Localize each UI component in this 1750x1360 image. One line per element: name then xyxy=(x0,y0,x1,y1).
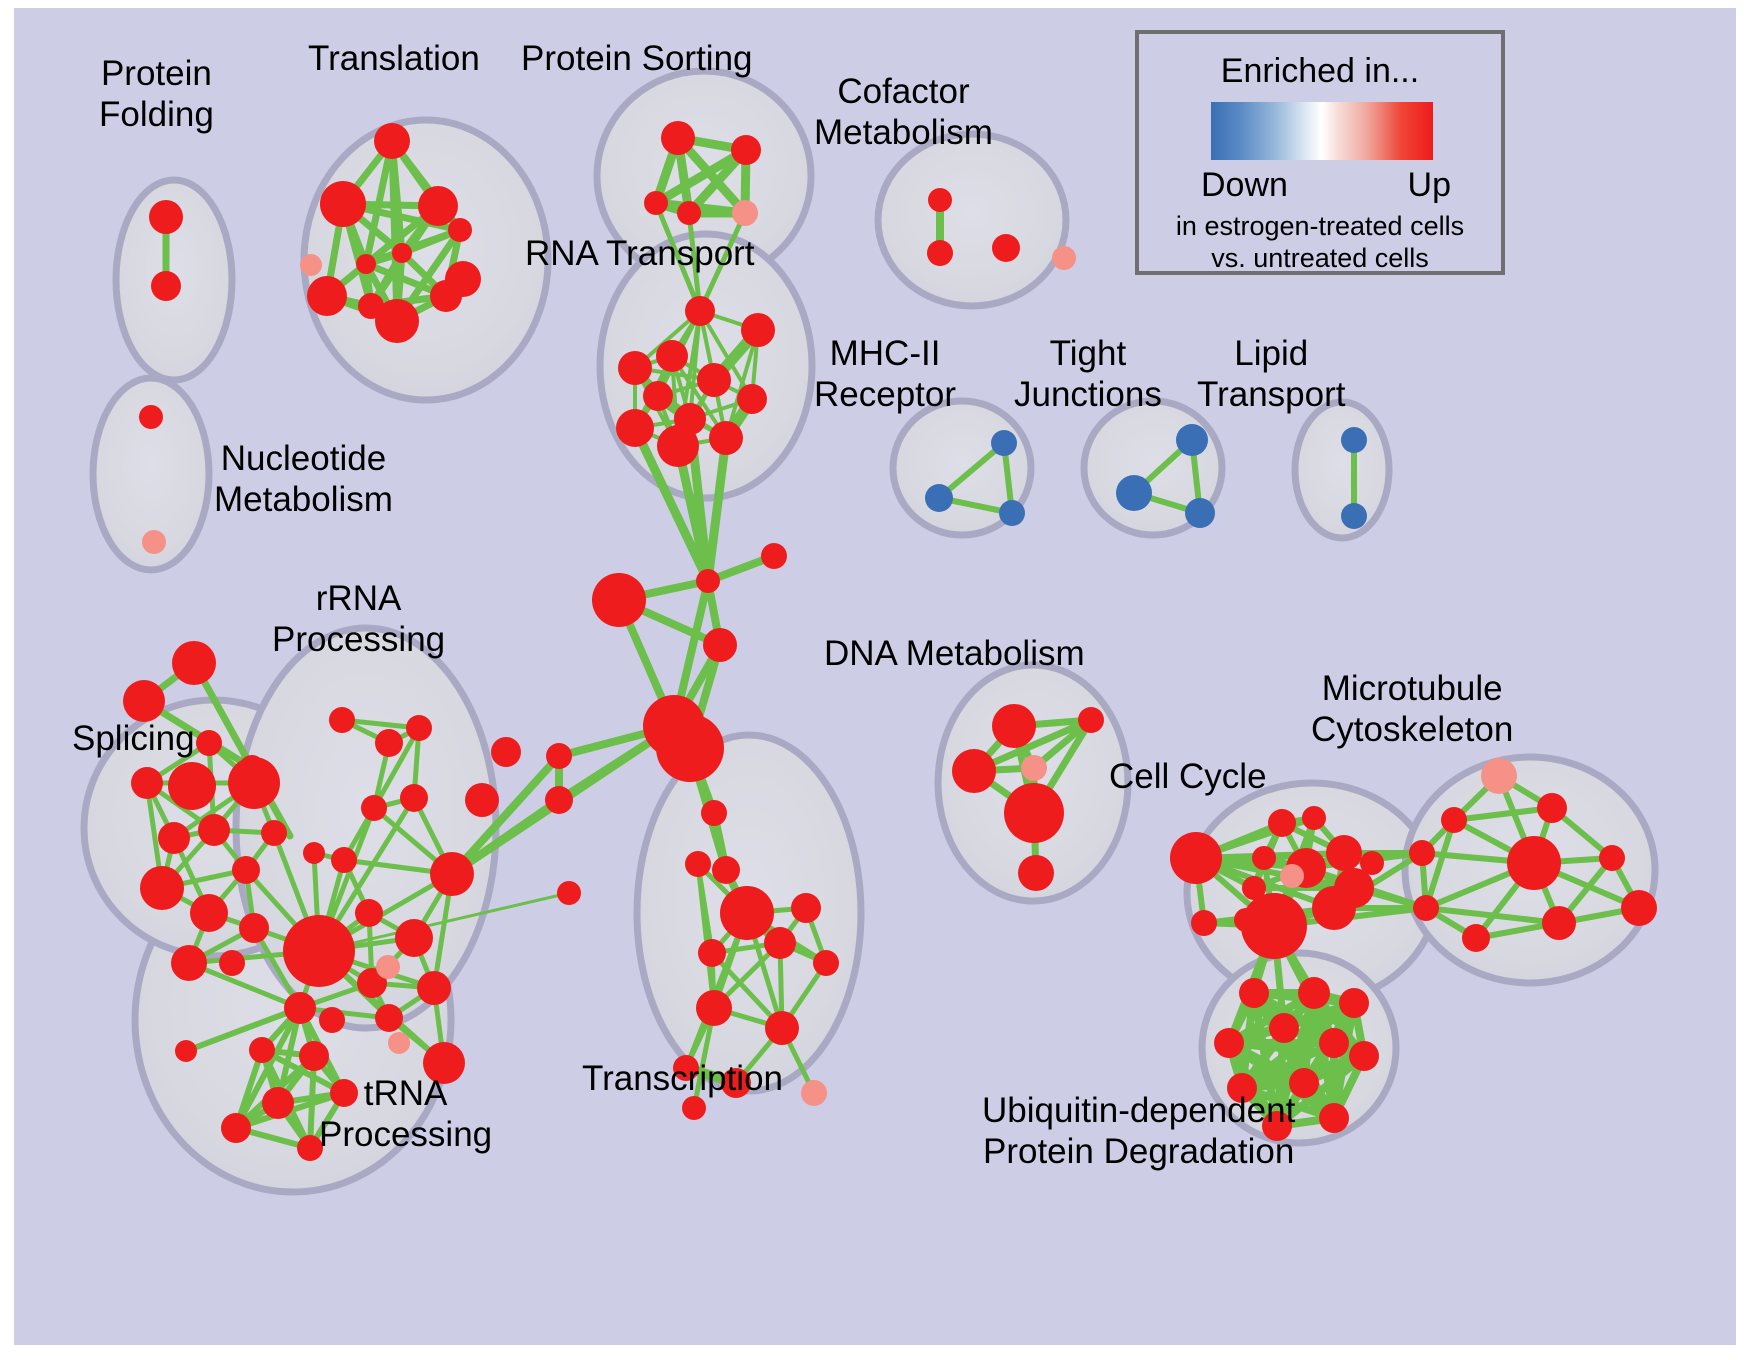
figure-root: Protein Folding Translation Protein Sort… xyxy=(0,0,1750,1360)
node xyxy=(1298,977,1330,1009)
node xyxy=(1621,890,1657,926)
node xyxy=(992,234,1020,262)
halo-cofactor-metabolism xyxy=(878,134,1066,306)
node xyxy=(685,851,711,877)
node xyxy=(1537,793,1567,823)
node xyxy=(1234,908,1258,932)
node xyxy=(1269,1013,1299,1043)
node xyxy=(1339,988,1369,1018)
node xyxy=(1289,1068,1319,1098)
node xyxy=(698,939,726,967)
node xyxy=(1227,1073,1257,1103)
node xyxy=(140,866,184,910)
node xyxy=(1078,707,1104,733)
node xyxy=(1507,836,1561,890)
node xyxy=(171,945,207,981)
node xyxy=(1599,845,1625,871)
node xyxy=(731,135,761,165)
node xyxy=(696,569,720,593)
node xyxy=(657,425,699,467)
node xyxy=(1409,840,1435,866)
node xyxy=(300,254,322,276)
node xyxy=(297,1135,323,1161)
node xyxy=(685,296,715,326)
node xyxy=(1462,924,1490,952)
node xyxy=(1542,906,1576,940)
node xyxy=(307,276,347,316)
node xyxy=(418,186,458,226)
node xyxy=(1252,846,1276,870)
node xyxy=(355,899,383,927)
node xyxy=(228,757,280,809)
network-canvas: Protein Folding Translation Protein Sort… xyxy=(14,8,1736,1345)
node xyxy=(1302,806,1326,830)
node xyxy=(356,254,376,274)
node xyxy=(303,842,325,864)
node xyxy=(395,919,433,957)
node xyxy=(999,500,1025,526)
node xyxy=(172,641,216,685)
node xyxy=(1268,809,1296,837)
legend-panel: Enriched in... Down Up in estrogen-treat… xyxy=(1135,30,1505,275)
node xyxy=(284,992,316,1024)
node xyxy=(375,1004,403,1032)
node xyxy=(927,240,953,266)
node xyxy=(417,971,451,1005)
node xyxy=(1018,855,1054,891)
node xyxy=(952,749,996,793)
node xyxy=(1341,503,1367,529)
node xyxy=(801,1080,827,1106)
node xyxy=(448,218,472,242)
node xyxy=(592,573,646,627)
color-scale-bar xyxy=(1211,102,1433,160)
legend-up-label: Up xyxy=(1408,166,1451,205)
node xyxy=(643,381,673,411)
node xyxy=(991,430,1017,456)
node xyxy=(813,950,839,976)
node xyxy=(375,299,419,343)
node xyxy=(557,881,581,905)
node xyxy=(1280,864,1304,888)
node xyxy=(992,704,1036,748)
node xyxy=(1312,886,1356,930)
node xyxy=(656,340,688,372)
legend-title: Enriched in... xyxy=(1139,52,1501,91)
node xyxy=(388,1032,410,1054)
node xyxy=(644,191,668,215)
node xyxy=(445,261,481,297)
legend-down-label: Down xyxy=(1201,166,1288,205)
node xyxy=(703,628,737,662)
node xyxy=(661,121,695,155)
node xyxy=(1170,832,1222,884)
node xyxy=(261,820,287,846)
node xyxy=(392,243,412,263)
node xyxy=(175,1040,197,1062)
node xyxy=(1481,758,1517,794)
node xyxy=(1176,424,1208,456)
node xyxy=(283,915,355,987)
node xyxy=(741,313,775,347)
node xyxy=(737,384,767,414)
node xyxy=(374,123,410,159)
node xyxy=(1319,1103,1349,1133)
node xyxy=(696,990,732,1026)
node xyxy=(329,707,355,733)
node xyxy=(677,201,701,225)
node xyxy=(682,1096,706,1120)
node xyxy=(1191,910,1217,936)
node xyxy=(131,767,163,799)
node xyxy=(1214,1028,1244,1058)
node xyxy=(221,1113,251,1143)
node xyxy=(151,271,181,301)
node xyxy=(319,1007,345,1033)
node xyxy=(928,188,952,212)
node xyxy=(249,1037,275,1063)
node xyxy=(1239,978,1269,1008)
node xyxy=(1116,475,1152,511)
node xyxy=(545,786,573,814)
node xyxy=(765,1011,799,1045)
node xyxy=(764,927,796,959)
node xyxy=(1441,807,1467,833)
node xyxy=(149,200,183,234)
node xyxy=(1185,498,1215,528)
node xyxy=(1413,895,1439,921)
node xyxy=(239,913,269,943)
node xyxy=(1326,835,1362,871)
node xyxy=(400,784,428,812)
node xyxy=(190,894,228,932)
node xyxy=(925,484,953,512)
node xyxy=(219,950,245,976)
node xyxy=(618,351,652,385)
node xyxy=(673,1055,699,1081)
node xyxy=(262,1087,294,1119)
node xyxy=(1052,246,1076,270)
node xyxy=(139,405,163,429)
node xyxy=(1319,1028,1349,1058)
node xyxy=(196,730,222,756)
node xyxy=(376,955,400,979)
node xyxy=(375,729,403,757)
node xyxy=(465,783,499,817)
node xyxy=(1349,1041,1379,1071)
node xyxy=(330,1079,358,1107)
node xyxy=(423,1042,465,1084)
node xyxy=(761,543,787,569)
node xyxy=(142,530,166,554)
node xyxy=(791,893,821,923)
node xyxy=(656,714,724,782)
node xyxy=(701,800,727,826)
node xyxy=(1021,755,1047,781)
node xyxy=(720,886,774,940)
node xyxy=(1004,783,1064,843)
halo-translation xyxy=(304,120,548,400)
node xyxy=(1341,427,1367,453)
node xyxy=(709,421,743,455)
node xyxy=(123,680,165,722)
node xyxy=(361,795,387,821)
node xyxy=(320,181,366,227)
node xyxy=(721,1068,751,1098)
node xyxy=(430,852,474,896)
legend-sublabel: in estrogen-treated cells vs. untreated … xyxy=(1139,210,1501,274)
node xyxy=(732,200,758,226)
node xyxy=(158,822,190,854)
node xyxy=(1360,851,1384,875)
node xyxy=(198,814,230,846)
node xyxy=(299,1041,329,1071)
node xyxy=(331,847,357,873)
node xyxy=(1262,1111,1292,1141)
node xyxy=(546,743,572,769)
node xyxy=(712,856,740,884)
node xyxy=(168,762,216,810)
node xyxy=(616,409,654,447)
node xyxy=(491,737,521,767)
node xyxy=(697,363,731,397)
node xyxy=(406,715,432,741)
node xyxy=(232,856,260,884)
